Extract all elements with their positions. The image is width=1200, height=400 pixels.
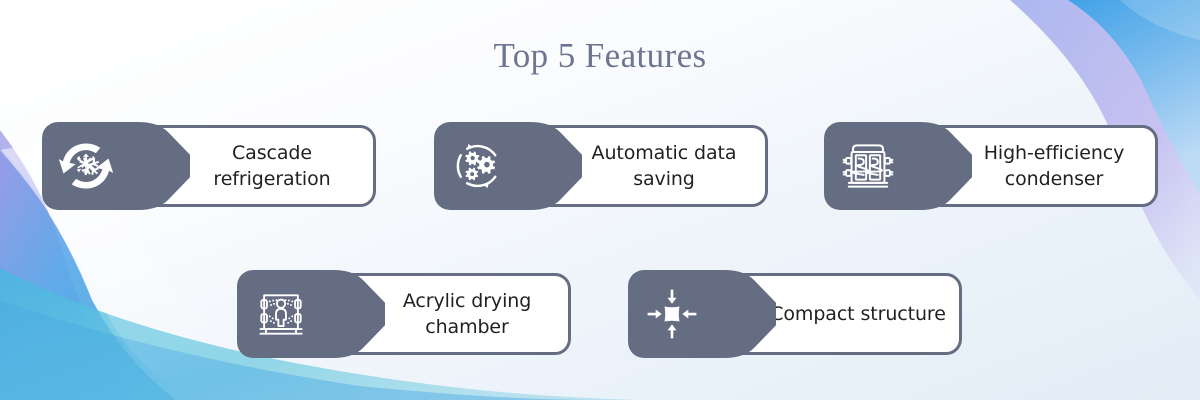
condenser-coil-icon [838,136,898,196]
feature-icon-panel-5 [628,270,776,358]
drying-chamber-person-icon [251,284,311,344]
feature-card-4[interactable]: Acrylic drying chamber [237,270,571,358]
gears-cycle-icon [448,136,508,196]
feature-icon-panel-1 [42,122,190,210]
slide-canvas: Top 5 Features Cascade refrigeration [0,0,1200,400]
compress-arrows-icon [642,284,702,344]
feature-card-1[interactable]: Cascade refrigeration [42,122,376,210]
feature-card-5[interactable]: Compact structure [628,270,962,358]
page-title: Top 5 Features [0,36,1200,76]
feature-card-3[interactable]: High-efficiency condenser [824,122,1158,210]
feature-icon-panel-4 [237,270,385,358]
snowflake-refrigeration-cycle-icon [56,136,116,196]
feature-icon-panel-2 [434,122,582,210]
feature-card-2[interactable]: Automatic data saving [434,122,768,210]
feature-icon-panel-3 [824,122,972,210]
